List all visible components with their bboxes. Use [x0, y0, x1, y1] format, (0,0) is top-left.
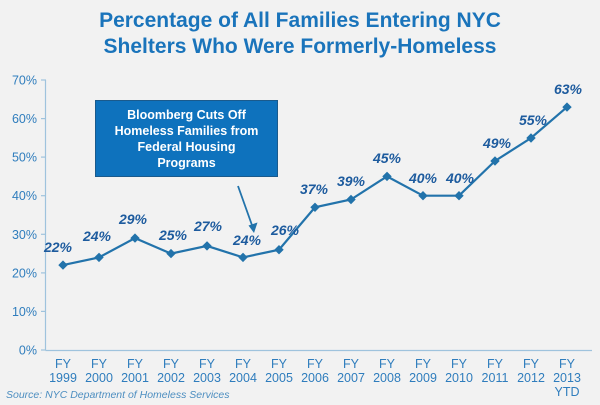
data-label-fy2005: 26% [270, 222, 300, 238]
data-label-fy2011: 49% [482, 135, 512, 151]
x-tick-label-fy1999-line2: 1999 [49, 371, 77, 385]
data-label-fy2008: 45% [372, 150, 402, 166]
data-label-fy2003: 27% [193, 218, 223, 234]
y-tick-label-50: 50% [12, 151, 37, 165]
x-tick-label-fy2013-line1: FY [559, 357, 576, 371]
x-tick-label-fy2009-line1: FY [415, 357, 432, 371]
x-tick-label-fy2008-line1: FY [379, 357, 396, 371]
data-label-fy2002: 25% [158, 227, 188, 243]
y-tick-label-60: 60% [12, 112, 37, 126]
data-label-fy2006: 37% [300, 181, 329, 197]
chart-plot-area: 70% 60% 50% 40% 30% 20% 10% 0% [0, 0, 600, 405]
x-tick-label-fy2004-line2: 2004 [229, 371, 257, 385]
x-tick-label-fy2006-line2: 2006 [301, 371, 329, 385]
data-label-fy2001: 29% [118, 211, 148, 227]
data-label-fy2013: 63% [554, 81, 583, 97]
x-tick-label-fy2003-line2: 2003 [193, 371, 221, 385]
x-tick-label-fy2009-line2: 2009 [409, 371, 437, 385]
y-axis: 70% 60% 50% 40% 30% 20% 10% 0% [12, 74, 46, 358]
data-label-fy2004: 24% [232, 232, 262, 248]
chart-container: Percentage of All Families Entering NYC … [0, 0, 600, 405]
y-tick-label-20: 20% [12, 266, 37, 280]
x-tick-label-fy2012-line1: FY [523, 357, 540, 371]
data-label-fy2009: 40% [408, 170, 438, 186]
x-tick-label-fy2013-line3: YTD [555, 385, 580, 399]
x-tick-label-fy2013-line2: 2013 [553, 371, 581, 385]
x-tick-label-fy2005-line1: FY [271, 357, 288, 371]
data-point-marker [239, 253, 247, 261]
y-tick-label-0: 0% [19, 344, 37, 358]
annotation-arrow [238, 186, 258, 233]
data-point-marker [131, 234, 139, 242]
callout-line-4: Programs [102, 155, 271, 171]
x-tick-label-fy2002-line1: FY [163, 357, 180, 371]
data-point-marker [59, 261, 67, 269]
x-tick-label-fy2005-line2: 2005 [265, 371, 293, 385]
x-tick-label-fy2008-line2: 2008 [373, 371, 401, 385]
source-note: Source: NYC Department of Homeless Servi… [6, 389, 230, 401]
data-label-fy2010: 40% [445, 170, 475, 186]
data-point-marker [419, 192, 427, 200]
data-label-fy1999: 22% [43, 239, 73, 255]
callout-line-2: Homeless Families from [102, 123, 271, 139]
data-label-fy2000: 24% [82, 228, 112, 244]
x-tick-label-fy1999-line1: FY [55, 357, 72, 371]
annotation-callout-box: Bloomberg Cuts Off Homeless Families fro… [95, 100, 278, 177]
y-tick-label-70: 70% [12, 74, 37, 88]
data-label-fy2007: 39% [337, 173, 366, 189]
x-tick-label-fy2001-line1: FY [127, 357, 144, 371]
x-tick-label-fy2012-line2: 2012 [517, 371, 545, 385]
x-tick-label-fy2010-line2: 2010 [445, 371, 473, 385]
x-tick-label-fy2001-line2: 2001 [121, 371, 149, 385]
x-tick-label-fy2002-line2: 2002 [157, 371, 185, 385]
x-tick-label-fy2000-line1: FY [91, 357, 108, 371]
callout-line-3: Federal Housing [102, 139, 271, 155]
y-tick-label-30: 30% [12, 228, 37, 242]
x-tick-label-fy2006-line1: FY [307, 357, 324, 371]
x-tick-label-fy2003-line1: FY [199, 357, 216, 371]
x-tick-label-fy2010-line1: FY [451, 357, 468, 371]
y-tick-label-40: 40% [12, 189, 37, 203]
data-label-fy2012: 55% [519, 112, 548, 128]
data-point-marker [167, 250, 175, 258]
callout-line-1: Bloomberg Cuts Off [102, 107, 271, 123]
x-tick-label-fy2000-line2: 2000 [85, 371, 113, 385]
x-tick-label-fy2011-line2: 2011 [482, 371, 509, 385]
x-tick-label-fy2011-line1: FY [487, 357, 504, 371]
x-tick-label-fy2007-line2: 2007 [337, 371, 365, 385]
y-axis-tick-labels: 70% 60% 50% 40% 30% 20% 10% 0% [12, 74, 37, 358]
y-tick-label-10: 10% [12, 305, 37, 319]
x-tick-label-fy2004-line1: FY [235, 357, 252, 371]
x-tick-label-fy2007-line1: FY [343, 357, 360, 371]
data-point-marker [95, 253, 103, 261]
data-point-marker [203, 242, 211, 250]
